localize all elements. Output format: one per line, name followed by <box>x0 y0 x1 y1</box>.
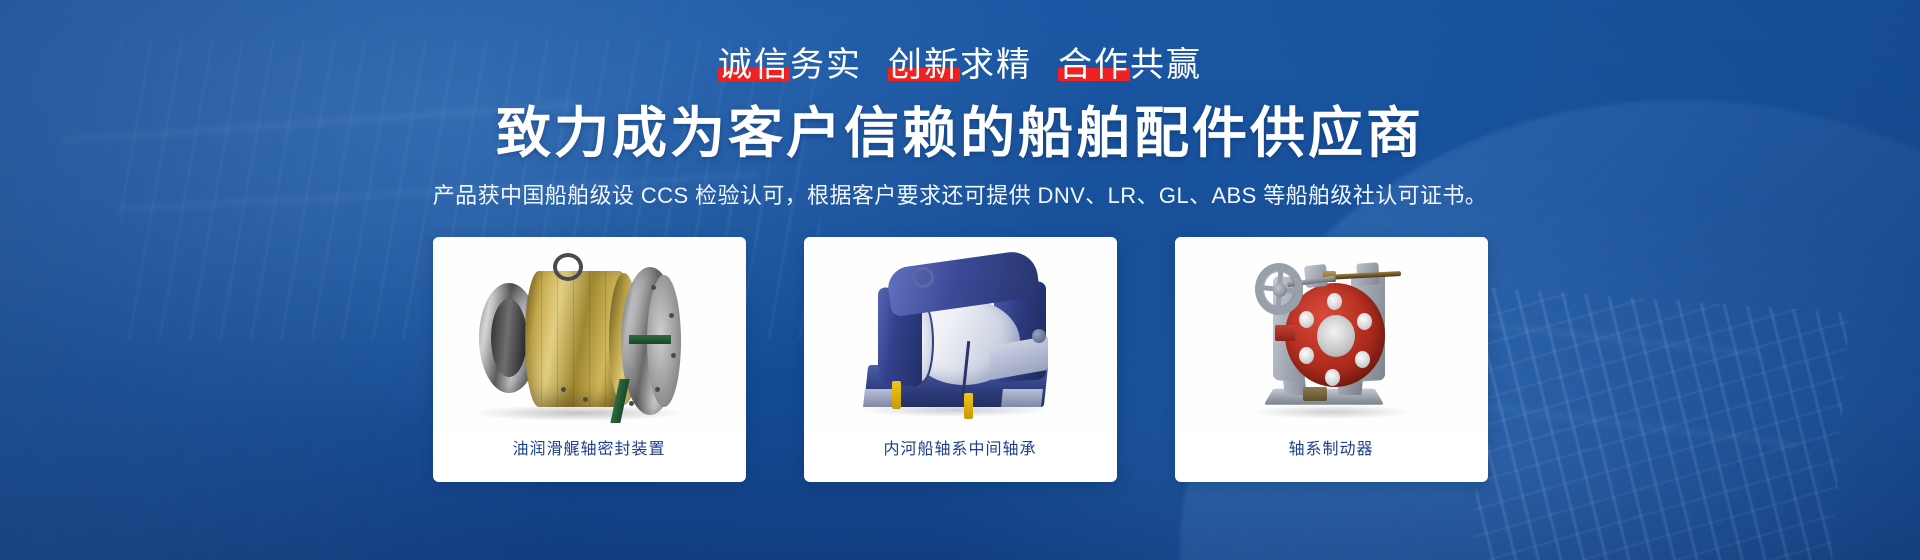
banner-content: 诚信务实 创新求精 合作共赢 致力成为客户信赖的船舶配件供应商 产品获中国船舶级… <box>0 0 1920 560</box>
banner-headline: 致力成为客户信赖的船舶配件供应商 <box>496 104 1424 162</box>
tagline-phrase-2-text: 创新求精 <box>888 46 1032 84</box>
product-card[interactable]: 油润滑艉轴密封装置 <box>433 237 746 482</box>
product-card[interactable]: 内河船轴系中间轴承 <box>804 237 1117 482</box>
tagline-phrase-2: 创新求精 <box>888 48 1032 82</box>
tagline-phrase-3-text: 合作共赢 <box>1058 46 1202 84</box>
tagline-phrase-3: 合作共赢 <box>1058 48 1202 82</box>
product-card-label: 内河船轴系中间轴承 <box>804 429 1117 482</box>
banner-tagline: 诚信务实 创新求精 合作共赢 <box>718 48 1202 82</box>
tagline-phrase-1: 诚信务实 <box>718 48 862 82</box>
product-card-label: 轴系制动器 <box>1175 429 1488 482</box>
product-card[interactable]: 轴系制动器 <box>1175 237 1488 482</box>
shafting-brake-photo <box>1175 237 1488 429</box>
tagline-phrase-1-text: 诚信务实 <box>718 46 862 84</box>
product-card-list: 油润滑艉轴密封装置 <box>433 237 1488 482</box>
oil-lubricated-stern-shaft-seal-photo <box>433 237 746 429</box>
banner-subline: 产品获中国船舶级设 CCS 检验认可，根据客户要求还可提供 DNV、LR、GL、… <box>433 182 1487 211</box>
hero-banner: 诚信务实 创新求精 合作共赢 致力成为客户信赖的船舶配件供应商 产品获中国船舶级… <box>0 0 1920 560</box>
product-card-label: 油润滑艉轴密封装置 <box>433 429 746 482</box>
inland-vessel-intermediate-bearing-photo <box>804 237 1117 429</box>
